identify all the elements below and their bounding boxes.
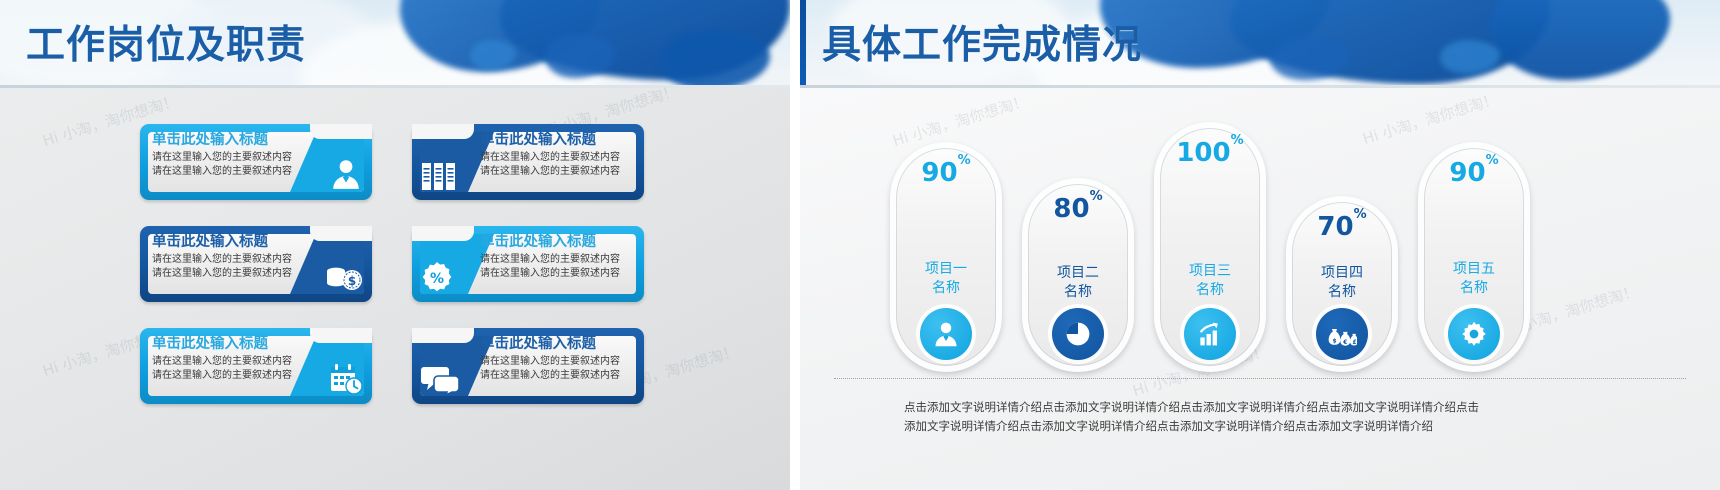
user-icon (920, 308, 972, 360)
callout-line: 请在这里输入您的主要叙述内容 (152, 151, 304, 165)
capsule-percent-value: 80 (1053, 194, 1089, 224)
footnote-line-1: 点击添加文字说明详情介绍点击添加文字说明详情介绍点击添加文字说明详情介绍点击添加… (904, 398, 1666, 417)
capsule-percent-value: 70 (1317, 212, 1353, 242)
percent-icon: % (421, 261, 453, 293)
svg-text:$: $ (348, 274, 356, 288)
capsule-name: 项目二 名称 (1022, 264, 1134, 302)
callout-line: 请在这里输入您的主要叙述内容 (152, 369, 304, 383)
callout-text-block: 单击此处输入标题 请在这里输入您的主要叙述内容 请在这里输入您的主要叙述内容 (480, 233, 632, 280)
percent-symbol: % (1231, 133, 1244, 148)
capsule-name-line2: 名称 (890, 279, 1002, 298)
wedge-notch (412, 328, 474, 343)
capsule-percent: 90% (1418, 158, 1530, 188)
capsule-percent: 100% (1154, 138, 1266, 168)
capsule-name-line1: 项目三 (1154, 262, 1266, 281)
callout-line: 请在这里输入您的主要叙述内容 (480, 253, 632, 267)
capsule-name-line1: 项目二 (1022, 264, 1134, 283)
capsule-name-line1: 项目五 (1418, 260, 1530, 279)
ink-splash (660, 30, 770, 88)
callout-box-1[interactable]: 单击此处输入标题 请在这里输入您的主要叙述内容 请在这里输入您的主要叙述内容 (140, 124, 372, 200)
slide-right: 具体工作完成情况 Hi 小淘，淘你想淘！ Hi 小淘，淘你想淘！ Hi 小淘，淘… (800, 0, 1720, 490)
callout-line: 请在这里输入您的主要叙述内容 (480, 369, 632, 383)
capsule-percent-value: 90 (1449, 158, 1485, 188)
callout-text-block: 单击此处输入标题 请在这里输入您的主要叙述内容 请在这里输入您的主要叙述内容 (480, 335, 632, 382)
wedge-notch (412, 124, 474, 139)
capsule-percent-value: 100 (1176, 138, 1230, 168)
wedge-notch (310, 226, 372, 241)
capsule-name-line1: 项目一 (890, 260, 1002, 279)
callout-title: 单击此处输入标题 (480, 335, 632, 354)
callout-box-5[interactable]: 单击此处输入标题 请在这里输入您的主要叙述内容 请在这里输入您的主要叙述内容 (140, 328, 372, 404)
callout-box-4[interactable]: 单击此处输入标题 请在这里输入您的主要叙述内容 请在这里输入您的主要叙述内容 % (412, 226, 644, 302)
callout-text-block: 单击此处输入标题 请在这里输入您的主要叙述内容 请在这里输入您的主要叙述内容 (152, 233, 304, 280)
callout-line: 请在这里输入您的主要叙述内容 (152, 165, 304, 179)
footnote-line-2: 添加文字说明详情介绍点击添加文字说明详情介绍点击添加文字说明详情介绍点击添加文字… (904, 417, 1666, 436)
capsule-name-line1: 项目四 (1286, 264, 1398, 283)
user-icon (329, 157, 363, 191)
callout-title: 单击此处输入标题 (480, 233, 632, 252)
capsule-1[interactable]: 90% 项目一 名称 (890, 142, 1002, 372)
capsule-name-line2: 名称 (1154, 281, 1266, 300)
capsule-2[interactable]: 80% 项目二 名称 (1022, 178, 1134, 372)
capsule-name-line2: 名称 (1286, 283, 1398, 302)
capsule-5[interactable]: 90% 项目五 名称 (1418, 142, 1530, 372)
percent-symbol: % (1090, 189, 1103, 204)
callout-title: 单击此处输入标题 (152, 131, 304, 150)
capsule-percent: 90% (890, 158, 1002, 188)
capsule-name-line2: 名称 (1418, 279, 1530, 298)
callout-box-grid: 单击此处输入标题 请在这里输入您的主要叙述内容 请在这里输入您的主要叙述内容 单… (140, 124, 680, 404)
svg-text:$: $ (1332, 338, 1336, 344)
svg-text:%: % (430, 271, 444, 287)
callout-line: 请在这里输入您的主要叙述内容 (480, 355, 632, 369)
ink-splash (1490, 0, 1670, 80)
percent-symbol: % (1486, 153, 1499, 168)
pie-chart-icon (1052, 308, 1104, 360)
callout-line: 请在这里输入您的主要叙述内容 (480, 267, 632, 281)
calendar-clock-icon (329, 363, 363, 395)
svg-text:€: € (1342, 340, 1347, 346)
slide-left: 工作岗位及职责 Hi 小淘，淘你想淘！ Hi 小淘，淘你想淘！ Hi 小淘，淘你… (0, 0, 790, 490)
banner-divider (0, 85, 790, 88)
callout-line: 请在这里输入您的主要叙述内容 (152, 355, 304, 369)
money-bags-icon: $€£ (1316, 308, 1368, 360)
right-slide-title: 具体工作完成情况 (822, 14, 1142, 70)
capsule-name: 项目三 名称 (1154, 262, 1266, 300)
capsule-percent: 80% (1022, 194, 1134, 224)
callout-text-block: 单击此处输入标题 请在这里输入您的主要叙述内容 请在这里输入您的主要叙述内容 (480, 131, 632, 178)
slide-gap (790, 0, 800, 490)
wedge-notch (310, 328, 372, 343)
bar-growth-icon (1184, 308, 1236, 360)
capsule-name-line2: 名称 (1022, 283, 1134, 302)
footnote-block: 点击添加文字说明详情介绍点击添加文字说明详情介绍点击添加文字说明详情介绍点击添加… (904, 398, 1666, 436)
chat-bubbles-icon (421, 365, 459, 395)
percent-symbol: % (1354, 207, 1367, 222)
callout-box-6[interactable]: 单击此处输入标题 请在这里输入您的主要叙述内容 请在这里输入您的主要叙述内容 (412, 328, 644, 404)
capsule-4[interactable]: 70% 项目四 名称 $€£ (1286, 196, 1398, 372)
money-coins-icon: $ (323, 263, 363, 293)
callout-text-block: 单击此处输入标题 请在这里输入您的主要叙述内容 请在这里输入您的主要叙述内容 (152, 131, 304, 178)
wedge-notch (412, 226, 474, 241)
capsule-3[interactable]: 100% 项目三 名称 (1154, 122, 1266, 372)
books-icon (421, 161, 457, 191)
callout-title: 单击此处输入标题 (152, 335, 304, 354)
capsule-name: 项目四 名称 (1286, 264, 1398, 302)
callout-box-2[interactable]: 单击此处输入标题 请在这里输入您的主要叙述内容 请在这里输入您的主要叙述内容 (412, 124, 644, 200)
callout-title: 单击此处输入标题 (152, 233, 304, 252)
callout-line: 请在这里输入您的主要叙述内容 (480, 165, 632, 179)
capsule-percent: 70% (1286, 212, 1398, 242)
gear-icon (1448, 308, 1500, 360)
callout-line: 请在这里输入您的主要叙述内容 (152, 267, 304, 281)
wedge-notch (310, 124, 372, 139)
banner-side-strip (800, 0, 806, 88)
capsule-name: 项目一 名称 (890, 260, 1002, 298)
callout-line: 请在这里输入您的主要叙述内容 (152, 253, 304, 267)
callout-box-3[interactable]: 单击此处输入标题 请在这里输入您的主要叙述内容 请在这里输入您的主要叙述内容 $ (140, 226, 372, 302)
callout-text-block: 单击此处输入标题 请在这里输入您的主要叙述内容 请在这里输入您的主要叙述内容 (152, 335, 304, 382)
callout-title: 单击此处输入标题 (480, 131, 632, 150)
svg-text:£: £ (1352, 340, 1356, 346)
left-slide-title: 工作岗位及职责 (26, 14, 306, 70)
slide-pair-canvas: 工作岗位及职责 Hi 小淘，淘你想淘！ Hi 小淘，淘你想淘！ Hi 小淘，淘你… (0, 0, 1720, 490)
percent-symbol: % (958, 153, 971, 168)
banner-divider (800, 85, 1720, 88)
capsule-name: 项目五 名称 (1418, 260, 1530, 298)
capsule-percent-value: 90 (921, 158, 957, 188)
capsule-chart-group: 90% 项目一 名称 80% 项目二 名称 (830, 100, 1690, 390)
callout-line: 请在这里输入您的主要叙述内容 (480, 151, 632, 165)
